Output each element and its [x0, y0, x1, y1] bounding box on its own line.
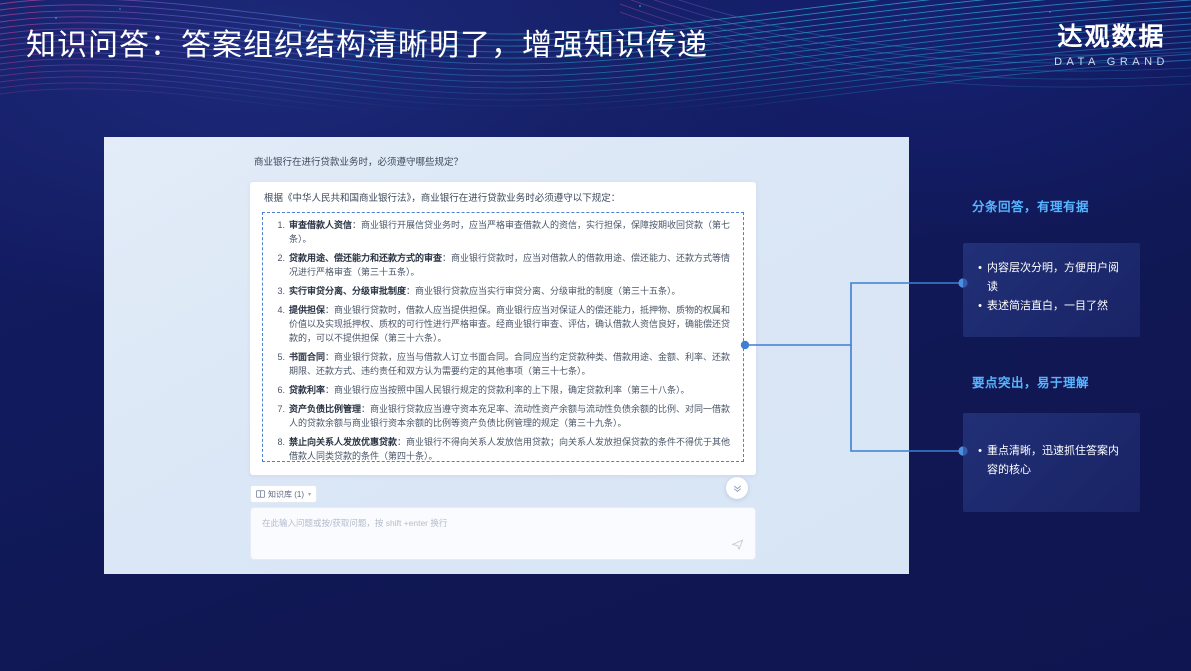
answer-item-body: 审查借款人资信：商业银行开展信贷业务时，应当严格审查借款人的资信，实行担保，保障…: [289, 218, 735, 246]
message-input-placeholder: 在此输入问题或按/获取问题，按 shift +enter 换行: [262, 517, 447, 529]
answer-item-number: 6.: [269, 383, 289, 397]
annotation-box-2: • 重点清晰，迅速抓住答案内容的核心: [963, 413, 1140, 512]
answer-item-body: 书面合同：商业银行贷款，应当与借款人订立书面合同。合同应当约定贷款种类、借款用途…: [289, 350, 735, 378]
answer-list-item: 1. 审查借款人资信：商业银行开展信贷业务时，应当严格审查借款人的资信，实行担保…: [269, 218, 735, 246]
answer-item-title: 实行审贷分离、分级审批制度: [289, 286, 406, 296]
annotation-bullet: • 表述简洁直白，一目了然: [973, 297, 1126, 316]
bullet-dot-icon: •: [973, 297, 987, 316]
answer-item-text: ：商业银行应当按照中国人民银行规定的贷款利率的上下限，确定贷款利率（第三十八条）…: [325, 385, 690, 395]
knowledge-base-label: 知识库 (1): [268, 489, 304, 500]
answer-item-body: 贷款用途、偿还能力和还款方式的审查：商业银行贷款时，应当对借款人的借款用途、偿还…: [289, 251, 735, 279]
annotation-bullet-text: 重点清晰，迅速抓住答案内容的核心: [987, 442, 1126, 480]
answer-item-text: ：商业银行贷款时，借款人应当提供担保。商业银行应当对保证人的偿还能力，抵押物、质…: [289, 305, 730, 343]
answer-item-text: ：商业银行开展信贷业务时，应当严格审查借款人的资信，实行担保，保障按期收回贷款（…: [289, 220, 730, 244]
answer-item-number: 7.: [269, 402, 289, 430]
annotation-bullet: • 内容层次分明，方便用户阅读: [973, 259, 1126, 297]
slide: 知识问答：答案组织结构清晰明了，增强知识传递 达观数据 DATA GRAND 商…: [0, 0, 1191, 671]
answer-item-body: 提供担保：商业银行贷款时，借款人应当提供担保。商业银行应当对保证人的偿还能力，抵…: [289, 303, 735, 345]
page-title: 知识问答：答案组织结构清晰明了，增强知识传递: [26, 26, 708, 66]
answer-card: 根据《中华人民共和国商业银行法》，商业银行在进行贷款业务时必须遵守以下规定： 1…: [250, 182, 756, 475]
logo-text-en: DATA GRAND: [1054, 54, 1169, 70]
book-icon: [256, 490, 265, 498]
answer-item-text: ：商业银行贷款，应当与借款人订立书面合同。合同应当约定贷款种类、借款用途、金额、…: [289, 352, 730, 376]
product-screenshot-panel: 商业银行在进行贷款业务时，必须遵守哪些规定？ 根据《中华人民共和国商业银行法》，…: [104, 137, 909, 574]
double-chevron-down-icon: [733, 484, 742, 493]
answer-item-body: 贷款利率：商业银行应当按照中国人民银行规定的贷款利率的上下限，确定贷款利率（第三…: [289, 383, 735, 397]
annotation-bullet: • 重点清晰，迅速抓住答案内容的核心: [973, 442, 1126, 480]
answer-item-body: 资产负债比例管理：商业银行贷款应当遵守资本充足率、流动性资产余额与流动性负债余额…: [289, 402, 735, 430]
user-question-text: 商业银行在进行贷款业务时，必须遵守哪些规定？: [254, 156, 814, 170]
answer-item-body: 禁止向关系人发放优惠贷款：商业银行不得向关系人发放信用贷款；向关系人发放担保贷款…: [289, 435, 735, 463]
answer-item-title: 贷款用途、偿还能力和还款方式的审查: [289, 253, 442, 263]
chevron-down-icon: ▾: [308, 491, 311, 498]
answer-item-title: 审查借款人资信: [289, 220, 352, 230]
answer-item-number: 1.: [269, 218, 289, 246]
annotation-bullet-text: 内容层次分明，方便用户阅读: [987, 259, 1126, 297]
bullet-dot-icon: •: [973, 442, 987, 480]
answer-item-body: 实行审贷分离、分级审批制度：商业银行贷款应当实行审贷分离、分级审批的制度（第三十…: [289, 284, 735, 298]
answer-item-title: 书面合同: [289, 352, 325, 362]
answer-item-number: 3.: [269, 284, 289, 298]
answer-list-item: 3. 实行审贷分离、分级审批制度：商业银行贷款应当实行审贷分离、分级审批的制度（…: [269, 284, 735, 298]
answer-lead-text: 根据《中华人民共和国商业银行法》，商业银行在进行贷款业务时必须遵守以下规定：: [264, 192, 744, 206]
answer-item-number: 2.: [269, 251, 289, 279]
answer-item-number: 4.: [269, 303, 289, 345]
message-input-box[interactable]: 在此输入问题或按/获取问题，按 shift +enter 换行: [250, 507, 756, 560]
send-icon[interactable]: [731, 538, 744, 551]
annotation-heading-2: 要点突出，易于理解: [972, 374, 1089, 392]
answer-item-number: 8.: [269, 435, 289, 463]
scroll-to-bottom-button[interactable]: [726, 477, 748, 499]
knowledge-base-selector[interactable]: 知识库 (1) ▾: [250, 485, 317, 503]
answer-item-title: 贷款利率: [289, 385, 325, 395]
annotation-box-1: • 内容层次分明，方便用户阅读 • 表述简洁直白，一目了然: [963, 243, 1140, 337]
bullet-dot-icon: •: [973, 259, 987, 297]
annotation-heading-1: 分条回答，有理有据: [972, 198, 1089, 216]
answer-list-item: 5. 书面合同：商业银行贷款，应当与借款人订立书面合同。合同应当约定贷款种类、借…: [269, 350, 735, 378]
annotation-bullet-text: 表述简洁直白，一目了然: [987, 297, 1126, 316]
brand-logo: 达观数据 DATA GRAND: [1054, 22, 1169, 70]
logo-text-cn: 达观数据: [1054, 22, 1169, 52]
answer-highlight-region: 1. 审查借款人资信：商业银行开展信贷业务时，应当严格审查借款人的资信，实行担保…: [262, 212, 744, 462]
answer-item-title: 禁止向关系人发放优惠贷款: [289, 437, 397, 447]
answer-list-item: 4. 提供担保：商业银行贷款时，借款人应当提供担保。商业银行应当对保证人的偿还能…: [269, 303, 735, 345]
answer-item-text: ：商业银行贷款应当实行审贷分离、分级审批的制度（第三十五条）。: [406, 286, 681, 296]
answer-list-item: 6. 贷款利率：商业银行应当按照中国人民银行规定的贷款利率的上下限，确定贷款利率…: [269, 383, 735, 397]
answer-list-item: 2. 贷款用途、偿还能力和还款方式的审查：商业银行贷款时，应当对借款人的借款用途…: [269, 251, 735, 279]
answer-item-title: 资产负债比例管理: [289, 404, 361, 414]
answer-item-number: 5.: [269, 350, 289, 378]
answer-list-item: 7. 资产负债比例管理：商业银行贷款应当遵守资本充足率、流动性资产余额与流动性负…: [269, 402, 735, 430]
answer-list-item: 8. 禁止向关系人发放优惠贷款：商业银行不得向关系人发放信用贷款；向关系人发放担…: [269, 435, 735, 463]
answer-item-title: 提供担保: [289, 305, 325, 315]
